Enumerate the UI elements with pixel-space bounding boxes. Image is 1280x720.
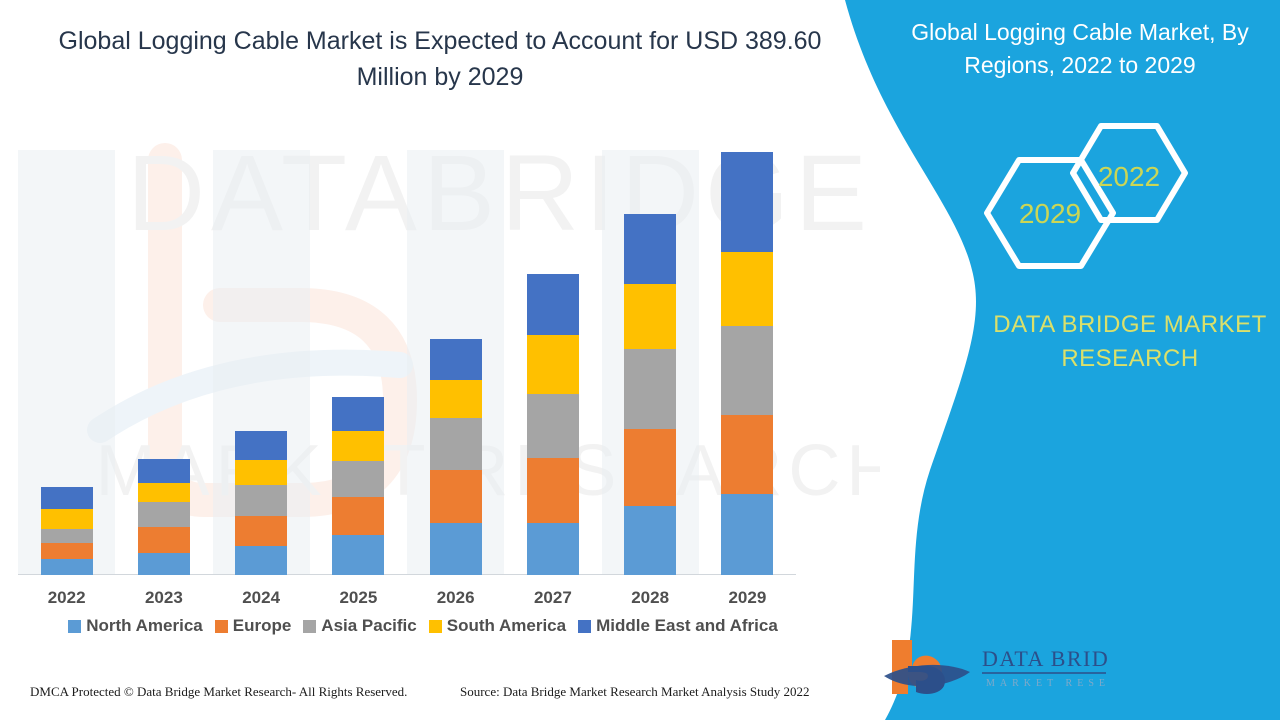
bar-segment[interactable]: [332, 431, 384, 462]
bar-segment[interactable]: [41, 529, 93, 543]
x-axis-labels: 20222023202420252026202720282029: [18, 588, 796, 608]
bar-segment[interactable]: [721, 494, 773, 575]
x-tick-label: 2028: [602, 588, 699, 608]
legend-swatch-icon: [578, 620, 591, 633]
stacked-bar-2024[interactable]: [235, 431, 287, 576]
x-tick-label: 2024: [213, 588, 310, 608]
chart-plot-area: [18, 150, 818, 575]
hexagon-badges: 2029 2022: [975, 118, 1195, 298]
bar-segment[interactable]: [235, 485, 287, 516]
bar-segment[interactable]: [235, 460, 287, 484]
brand-line-1: DATA BRIDGE MARKET: [993, 311, 1266, 338]
bar-segment[interactable]: [41, 509, 93, 529]
bar-slot: [504, 150, 601, 575]
bar-slot: [18, 150, 115, 575]
stacked-bar-2022[interactable]: [41, 487, 93, 575]
bar-segment[interactable]: [332, 535, 384, 575]
page-title: Global Logging Cable Market is Expected …: [20, 24, 860, 95]
legend-item[interactable]: Asia Pacific: [303, 616, 416, 636]
legend-swatch-icon: [215, 620, 228, 633]
stacked-bar-2028[interactable]: [624, 214, 676, 575]
stacked-bar-2026[interactable]: [430, 339, 482, 575]
bar-group: [18, 150, 796, 575]
stacked-bar-2025[interactable]: [332, 397, 384, 576]
legend-item[interactable]: South America: [429, 616, 566, 636]
bar-segment[interactable]: [235, 546, 287, 575]
stacked-bar-2027[interactable]: [527, 274, 579, 575]
bar-segment[interactable]: [624, 429, 676, 506]
bar-segment[interactable]: [430, 523, 482, 575]
bar-segment[interactable]: [41, 543, 93, 559]
bar-segment[interactable]: [235, 431, 287, 461]
legend-swatch-icon: [303, 620, 316, 633]
bar-segment[interactable]: [138, 483, 190, 502]
bar-segment[interactable]: [721, 415, 773, 495]
bar-segment[interactable]: [332, 497, 384, 534]
bar-segment[interactable]: [138, 459, 190, 482]
x-tick-label: 2029: [699, 588, 796, 608]
bar-segment[interactable]: [527, 335, 579, 395]
bar-slot: [213, 150, 310, 575]
stacked-bar-2023[interactable]: [138, 459, 190, 575]
brand-name: DATA BRIDGE MARKET RESEARCH: [940, 308, 1280, 376]
bar-segment[interactable]: [430, 339, 482, 379]
legend-label: Asia Pacific: [321, 616, 416, 636]
bar-segment[interactable]: [235, 516, 287, 547]
logo-primary-text: DATA BRIDGE: [982, 646, 1108, 671]
legend-item[interactable]: North America: [68, 616, 203, 636]
bar-segment[interactable]: [138, 502, 190, 528]
x-tick-label: 2023: [115, 588, 212, 608]
bar-segment[interactable]: [41, 559, 93, 575]
bar-segment[interactable]: [527, 274, 579, 335]
legend-label: South America: [447, 616, 566, 636]
legend-label: North America: [86, 616, 203, 636]
bar-slot: [310, 150, 407, 575]
logo-mark-icon: [884, 640, 970, 694]
legend-item[interactable]: Europe: [215, 616, 292, 636]
brand-line-2: RESEARCH: [1061, 345, 1198, 372]
bar-segment[interactable]: [527, 394, 579, 458]
logo-secondary-text: MARKET RESEARCH: [986, 678, 1108, 689]
chart-infographic: DATABRIDGE MARKET RESEARCH Global Loggin…: [0, 0, 1280, 720]
bar-segment[interactable]: [41, 487, 93, 509]
data-bridge-logo: DATA BRIDGE MARKET RESEARCH: [878, 636, 1108, 698]
bar-segment[interactable]: [624, 506, 676, 575]
bar-segment[interactable]: [332, 397, 384, 431]
bar-segment[interactable]: [721, 326, 773, 414]
x-tick-label: 2022: [18, 588, 115, 608]
bar-slot: [602, 150, 699, 575]
bar-segment[interactable]: [138, 527, 190, 553]
chart-legend: North AmericaEuropeAsia PacificSouth Ame…: [18, 616, 828, 636]
legend-label: Europe: [233, 616, 292, 636]
legend-item[interactable]: Middle East and Africa: [578, 616, 778, 636]
bar-segment[interactable]: [430, 470, 482, 523]
legend-label: Middle East and Africa: [596, 616, 778, 636]
bar-segment[interactable]: [721, 252, 773, 326]
bar-segment[interactable]: [138, 553, 190, 575]
x-tick-label: 2025: [310, 588, 407, 608]
panel-title: Global Logging Cable Market, By Regions,…: [900, 16, 1260, 83]
bar-segment[interactable]: [624, 284, 676, 349]
svg-text:2022: 2022: [1098, 161, 1160, 192]
stacked-bar-2029[interactable]: [721, 152, 773, 575]
bar-segment[interactable]: [332, 461, 384, 497]
bar-segment[interactable]: [527, 523, 579, 575]
legend-swatch-icon: [429, 620, 442, 633]
bar-segment[interactable]: [624, 214, 676, 284]
bar-slot: [699, 150, 796, 575]
x-tick-label: 2027: [504, 588, 601, 608]
source-note: Source: Data Bridge Market Research Mark…: [460, 684, 809, 700]
x-tick-label: 2026: [407, 588, 504, 608]
bar-segment[interactable]: [721, 152, 773, 252]
svg-text:2029: 2029: [1019, 198, 1081, 229]
bar-segment[interactable]: [527, 458, 579, 523]
legend-swatch-icon: [68, 620, 81, 633]
bar-segment[interactable]: [624, 349, 676, 430]
dmca-notice: DMCA Protected © Data Bridge Market Rese…: [30, 684, 407, 700]
bar-segment[interactable]: [430, 380, 482, 418]
bar-slot: [115, 150, 212, 575]
bar-segment[interactable]: [430, 418, 482, 470]
bar-slot: [407, 150, 504, 575]
